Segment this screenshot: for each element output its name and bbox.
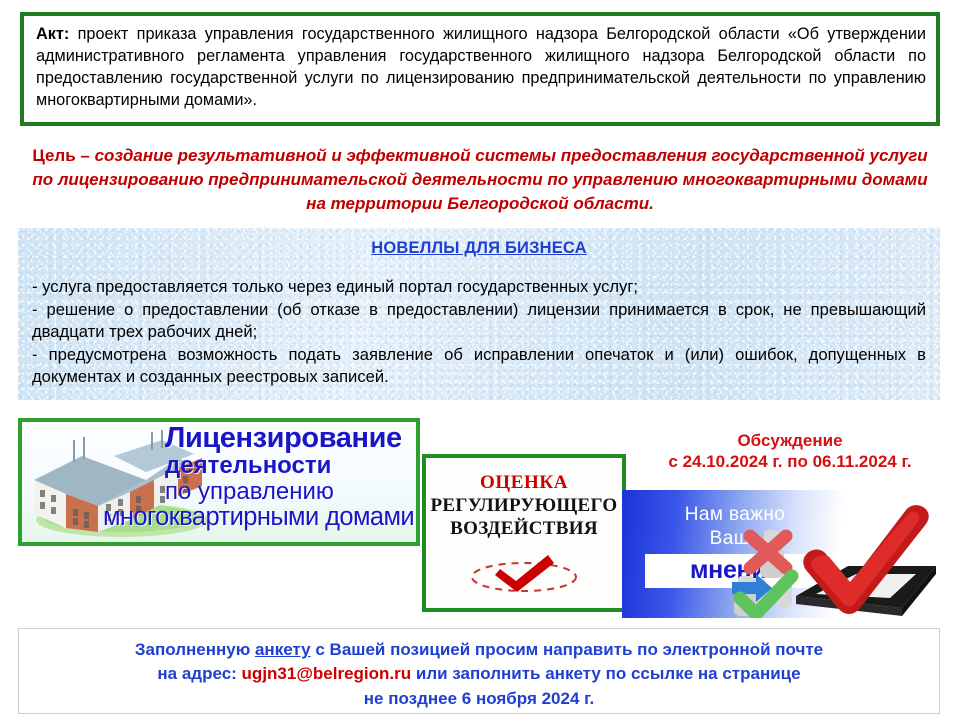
novelties-title: НОВЕЛЛЫ ДЛЯ БИЗНЕСА <box>32 239 926 258</box>
licensing-line-2: деятельности <box>165 454 420 478</box>
footer-line-1-suffix: с Вашей позицией просим направить по эле… <box>311 640 823 659</box>
licensing-line-4: многоквартирными домами <box>103 505 420 531</box>
licensing-banner: Лицензирование деятельности по управлени… <box>18 418 420 546</box>
survey-link[interactable]: анкету <box>255 640 311 659</box>
discussion-title: Обсуждение <box>630 430 950 451</box>
footer-deadline: не позднее 6 ноября 2024 г. <box>19 687 939 711</box>
novelties-panel: НОВЕЛЛЫ ДЛЯ БИЗНЕСА - услуга предоставля… <box>18 228 940 400</box>
discussion-header: Обсуждение с 24.10.2024 г. по 06.11.2024… <box>630 430 950 472</box>
footer-line-1-prefix: Заполненную <box>135 640 255 659</box>
goal-lead-label: Цель <box>32 146 75 165</box>
ballot-box-with-red-checkmark <box>730 490 960 618</box>
licensing-line-1: Лицензирование <box>165 424 420 453</box>
act-box: Акт: проект приказа управления государст… <box>20 12 940 126</box>
footer-line-2: на адрес: ugjn31@belregion.ru или заполн… <box>19 662 939 686</box>
discussion-dates: с 24.10.2024 г. по 06.11.2024 г. <box>630 451 950 472</box>
licensing-banner-text: Лицензирование деятельности по управлени… <box>165 424 420 531</box>
email-link[interactable]: ugjn31@belregion.ru <box>242 664 412 683</box>
act-body-text: проект приказа управления государственно… <box>36 25 926 109</box>
list-item: - решение о предоставлении (об отказе в … <box>32 299 926 344</box>
goal-text: Цель – создание результативной и эффекти… <box>30 144 930 216</box>
footer-address-label: на адрес: <box>157 664 241 683</box>
opinion-banner: Нам важно Ваше мнение <box>622 490 960 618</box>
footer-line-2-suffix: или заполнить анкету по ссылке на страни… <box>411 664 800 683</box>
footer-box: Заполненную анкету с Вашей позицией прос… <box>18 628 940 714</box>
licensing-line-3: по управлению <box>165 480 420 504</box>
orv-line-1: ОЦЕНКА <box>426 472 622 494</box>
goal-block: Цель – создание результативной и эффекти… <box>30 144 930 216</box>
orv-line-2: РЕГУЛИРУЮЩЕГО <box>426 495 622 517</box>
orv-mark <box>426 547 622 595</box>
list-item: - предусмотрена возможность подать заявл… <box>32 344 926 389</box>
footer-line-1: Заполненную анкету с Вашей позицией прос… <box>19 638 939 662</box>
orv-box: ОЦЕНКА РЕГУЛИРУЮЩЕГО ВОЗДЕЙСТВИЯ <box>422 454 626 612</box>
act-text: Акт: проект приказа управления государст… <box>36 23 926 112</box>
act-lead-label: Акт: <box>36 25 69 43</box>
list-item: - услуга предоставляется только через ед… <box>32 276 926 299</box>
orv-line-3: ВОЗДЕЙСТВИЯ <box>426 518 622 540</box>
novelties-list: - услуга предоставляется только через ед… <box>32 276 926 389</box>
red-check-with-dashed-ellipse <box>426 547 622 595</box>
goal-body-text: – создание результативной и эффективной … <box>32 146 927 213</box>
